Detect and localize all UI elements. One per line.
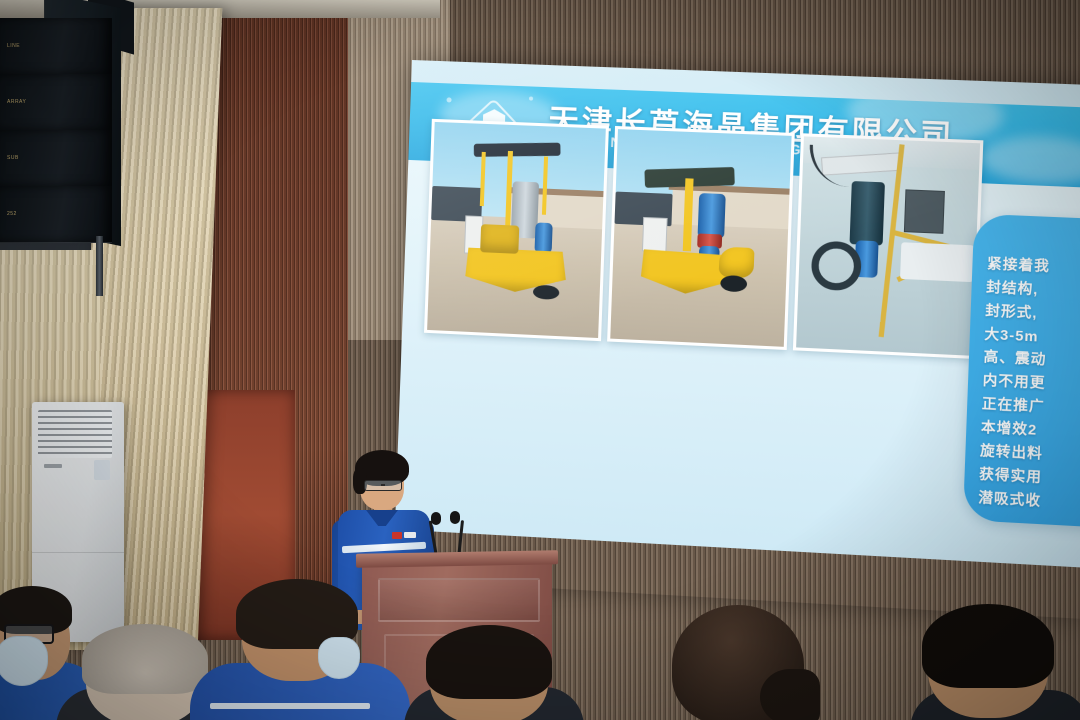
slide-photo-3 [793, 133, 983, 359]
microphone-head-left [431, 512, 441, 525]
cloud-decoration [980, 134, 1080, 186]
slide-text-callout: 潜吸 紧接着我 封结构, 封形式, 大3-5m 高、震动 内不用更 正在推广 本… [963, 214, 1080, 529]
audience-member [656, 605, 826, 720]
attendee-hair [426, 625, 552, 699]
presenter-badge [392, 532, 402, 539]
callout-line: 旋转出料 [980, 441, 1080, 468]
callout-line: 潜吸式收 [978, 488, 1080, 515]
speaker-cabinet: SUB [0, 130, 112, 187]
speaker-cabinet: ARRAY [0, 74, 112, 131]
presenter-glasses [364, 480, 402, 491]
salt-pile [900, 242, 974, 282]
presentation-photo: LINE ARRAY SUB 252 [0, 0, 1080, 720]
ac-vent-grille [38, 410, 112, 458]
pump-motor [850, 181, 885, 245]
machine-motor [534, 222, 552, 253]
audience-member [900, 610, 1080, 720]
attendee-hair [922, 604, 1054, 688]
callout-line: 内不用更 [982, 371, 1080, 398]
projection-screen: 天津长芦海晶集团有限公司 TIANJIN CHANGLU HAIJING GRO… [393, 60, 1080, 619]
callout-line: 封结构, [986, 277, 1080, 303]
speaker-cabinet: 252 [0, 186, 112, 243]
callout-line: 潜吸 [988, 231, 1080, 257]
line-array-speaker-stack: LINE ARRAY SUB 252 [0, 0, 128, 245]
audience-member [200, 585, 400, 720]
microphone-head-right [450, 511, 460, 524]
podium-upper-panel [378, 578, 540, 622]
machine-deck [480, 224, 519, 254]
slide-photo-2 [607, 126, 795, 350]
machine-canopy [474, 143, 561, 157]
machine-arm [719, 247, 755, 279]
machine-control-box [642, 217, 668, 252]
callout-line: 大3-5m [984, 324, 1080, 351]
ac-panel-seam [32, 552, 124, 553]
ac-brand-logo [44, 464, 62, 468]
attendee-stripe [210, 703, 370, 709]
callout-line: 封形式, [985, 301, 1080, 328]
speaker-cabinet: LINE [0, 18, 112, 75]
pump-hopper [904, 189, 945, 233]
callout-line: 本增效2 [981, 418, 1080, 445]
attendee-hair-strand [760, 669, 820, 720]
callout-line: 紧接着我 [987, 254, 1080, 280]
projected-slide: 天津长芦海晶集团有限公司 TIANJIN CHANGLU HAIJING GRO… [395, 60, 1080, 568]
slide-photo-1 [424, 119, 609, 341]
ac-control-badge [94, 460, 110, 480]
machine-motor-blue [698, 193, 726, 239]
presenter-name-tag [404, 532, 416, 538]
attendee-hair [82, 624, 208, 694]
attendee-face-mask [318, 637, 360, 679]
callout-line: 高、震动 [983, 348, 1080, 375]
callout-line: 正在推广 [981, 394, 1080, 421]
speaker-pole [96, 236, 103, 296]
audience-member [404, 625, 584, 720]
podium-top-surface [356, 550, 558, 568]
